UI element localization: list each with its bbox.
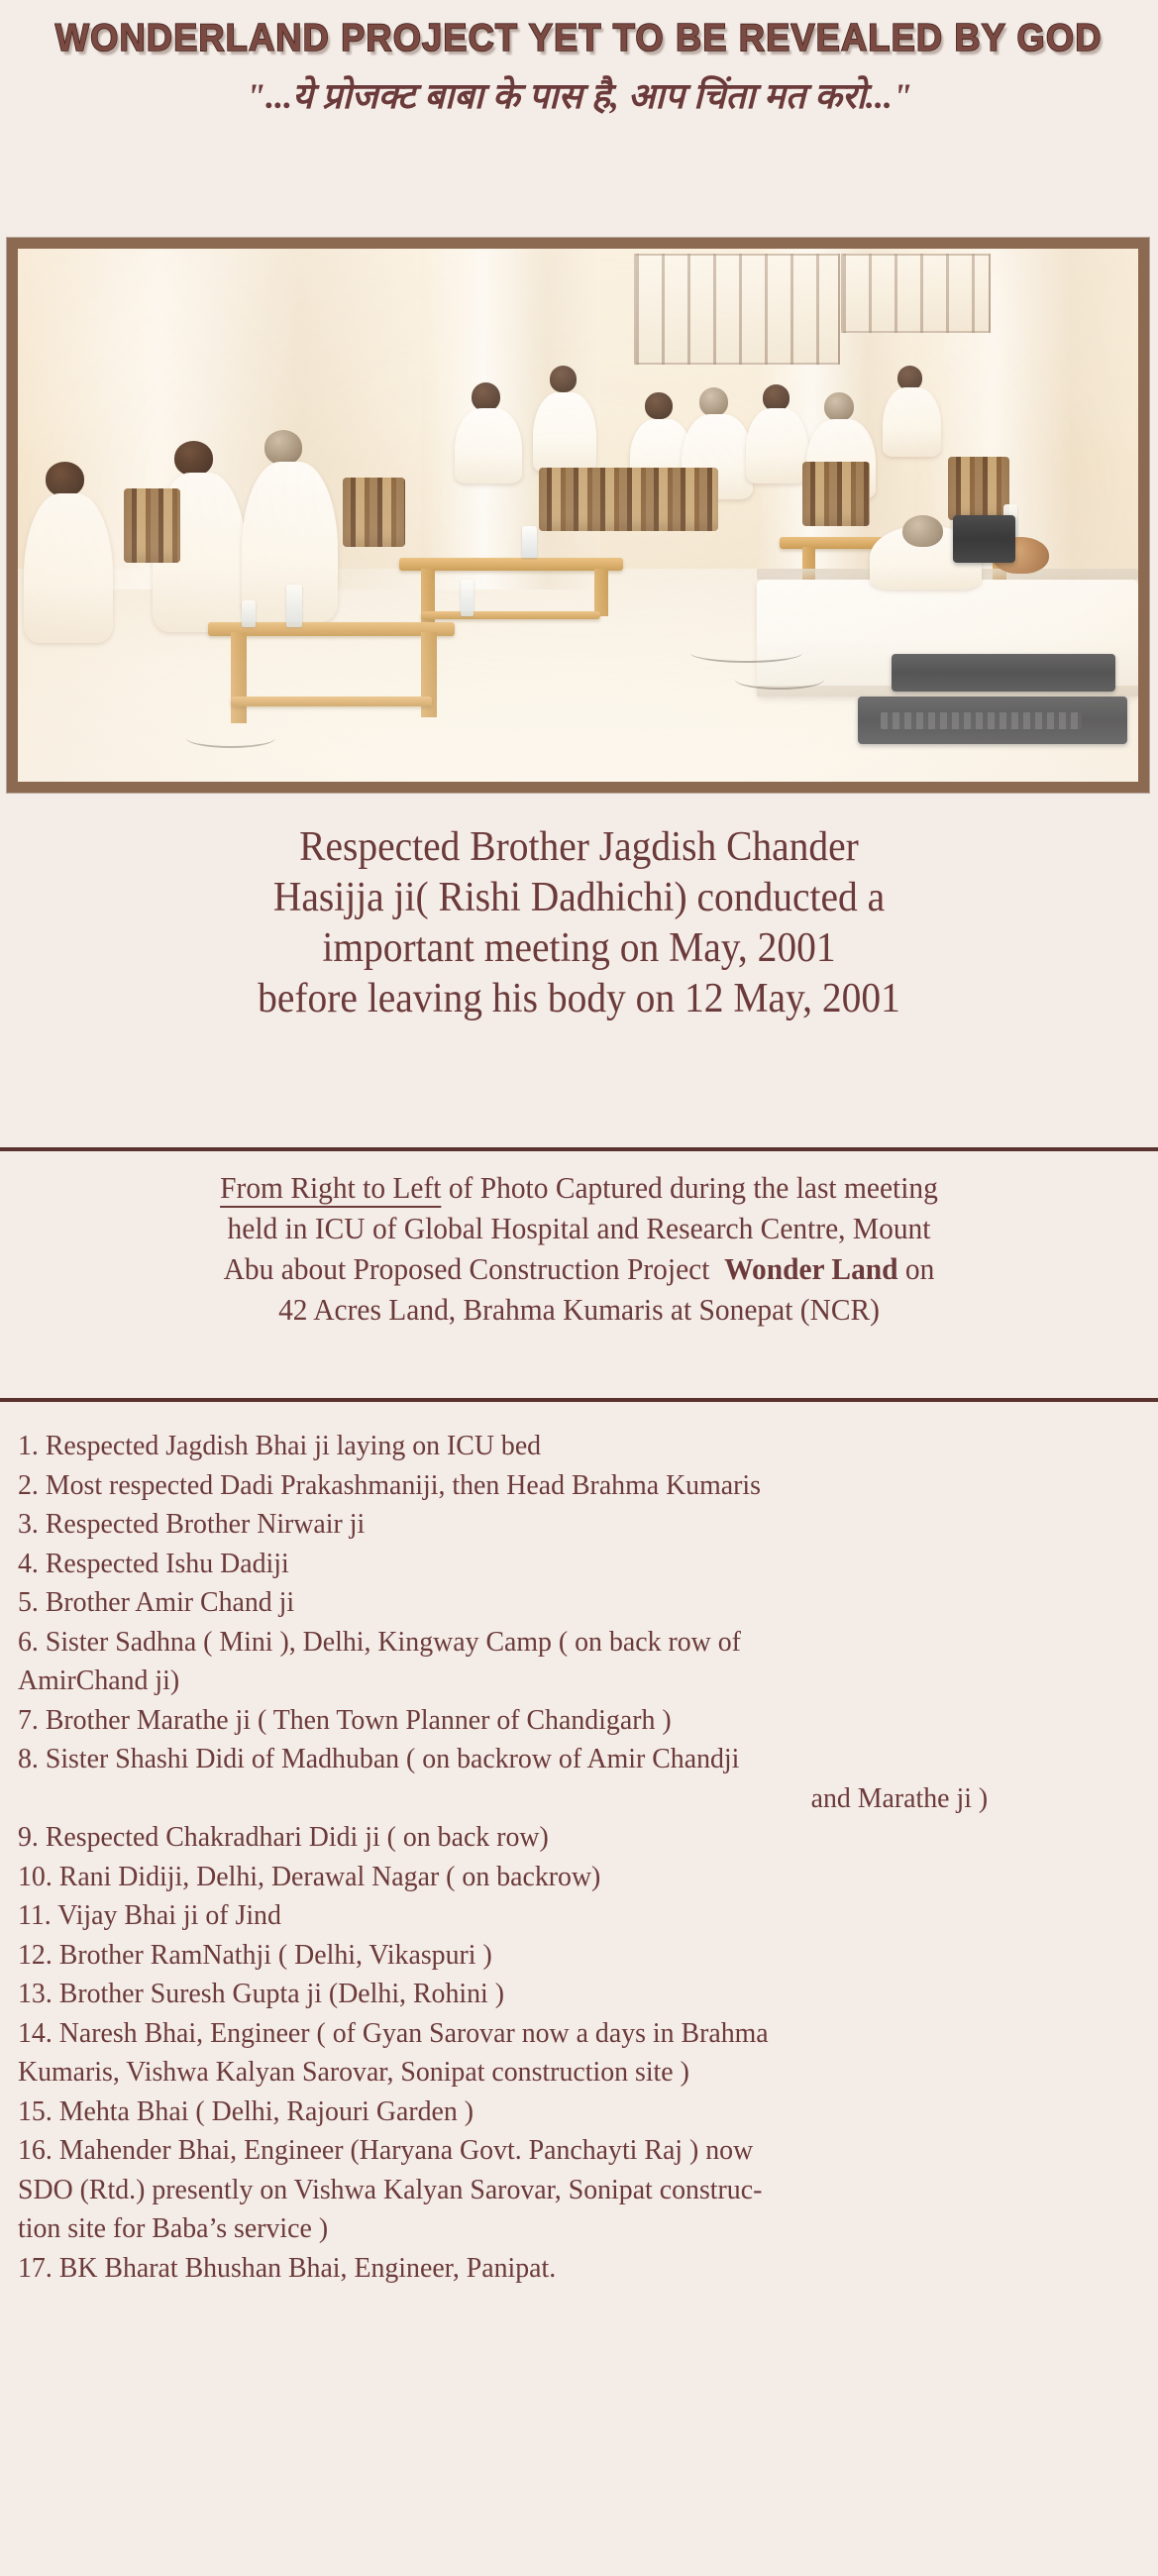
divider-top: [0, 1147, 1158, 1151]
list-item: 1. Respected Jagdish Bhai ji laying on I…: [18, 1427, 1102, 1466]
subcaption-line-3: Abu about Proposed Construction Project …: [29, 1248, 1129, 1289]
list-item: 3. Respected Brother Nirwair ji: [18, 1505, 1102, 1545]
page-title: WONDERLAND PROJECT YET TO BE REVEALED BY…: [55, 16, 1103, 61]
list-item: 4. Respected Ishu Dadiji: [18, 1545, 1102, 1584]
list-item-continuation: and Marathe ji ): [18, 1779, 1102, 1819]
quote-bar: "...ये प्रोजक्ट बाबा के पास है, आप चिंता…: [0, 71, 1158, 121]
photo-caption: Respected Brother Jagdish Chander Hasijj…: [35, 822, 1123, 1024]
list-item: 8. Sister Shashi Didi of Madhuban ( on b…: [18, 1740, 1102, 1779]
list-item: 16. Mahender Bhai, Engineer (Haryana Gov…: [18, 2131, 1102, 2171]
photo-frame: [7, 238, 1149, 793]
list-item: 13. Brother Suresh Gupta ji (Delhi, Rohi…: [18, 1975, 1102, 2014]
subcaption-line-1-rest: of Photo Captured during the last meetin…: [441, 1170, 937, 1205]
caption-line-4: before leaving his body on 12 May, 2001: [35, 974, 1123, 1024]
caption-line-2: Hasijja ji( Rishi Dadhichi) conducted a: [35, 873, 1123, 923]
list-item: 15. Mehta Bhai ( Delhi, Rajouri Garden ): [18, 2093, 1102, 2132]
caption-line-3: important meeting on May, 2001: [35, 923, 1123, 974]
subcaption-line-4: 42 Acres Land, Brahma Kumaris at Sonepat…: [29, 1289, 1129, 1330]
project-name: Wonder Land: [724, 1251, 897, 1286]
list-item: 12. Brother RamNathji ( Delhi, Vikaspuri…: [18, 1936, 1102, 1976]
people-list: 1. Respected Jagdish Bhai ji laying on I…: [18, 1427, 1102, 2288]
subcaption-line-2: held in ICU of Global Hospital and Resea…: [29, 1208, 1129, 1248]
subcaption-line-3-post: on: [898, 1251, 935, 1286]
list-item-continuation: tion site for Baba’s service ): [18, 2209, 1102, 2249]
subcaption-line-3-pre: Abu about Proposed Construction Project: [224, 1251, 725, 1286]
subcaption-line-1: From Right to Left of Photo Captured dur…: [29, 1167, 1129, 1208]
list-item: 2. Most respected Dadi Prakashmaniji, th…: [18, 1466, 1102, 1506]
divider-bottom: [0, 1398, 1158, 1402]
list-item: 7. Brother Marathe ji ( Then Town Planne…: [18, 1701, 1102, 1741]
list-item: 5. Brother Amir Chand ji: [18, 1583, 1102, 1623]
list-item: 9. Respected Chakradhari Didi ji ( on ba…: [18, 1818, 1102, 1858]
list-item-continuation: AmirChand ji): [18, 1662, 1102, 1701]
list-item: 11. Vijay Bhai ji of Jind: [18, 1896, 1102, 1936]
list-item: 14. Naresh Bhai, Engineer ( of Gyan Saro…: [18, 2014, 1102, 2054]
meeting-photo: [18, 249, 1138, 782]
list-item: 6. Sister Sadhna ( Mini ), Delhi, Kingwa…: [18, 1623, 1102, 1663]
photo-subcaption: From Right to Left of Photo Captured dur…: [29, 1167, 1129, 1330]
list-item-continuation: Kumaris, Vishwa Kalyan Sarovar, Sonipat …: [18, 2053, 1102, 2093]
list-item: 10. Rani Didiji, Delhi, Derawal Nagar ( …: [18, 1858, 1102, 1897]
list-item-continuation: SDO (Rtd.) presently on Vishwa Kalyan Sa…: [18, 2171, 1102, 2210]
title-bar: WONDERLAND PROJECT YET TO BE REVEALED BY…: [0, 16, 1158, 61]
poster-page: WONDERLAND PROJECT YET TO BE REVEALED BY…: [0, 0, 1158, 2576]
hindi-quote: "...ये प्रोजक्ट बाबा के पास है, आप चिंता…: [246, 71, 912, 121]
caption-line-1: Respected Brother Jagdish Chander: [35, 822, 1123, 873]
list-item: 17. BK Bharat Bhushan Bhai, Engineer, Pa…: [18, 2249, 1102, 2289]
subcaption-underlined: From Right to Left: [220, 1170, 441, 1208]
